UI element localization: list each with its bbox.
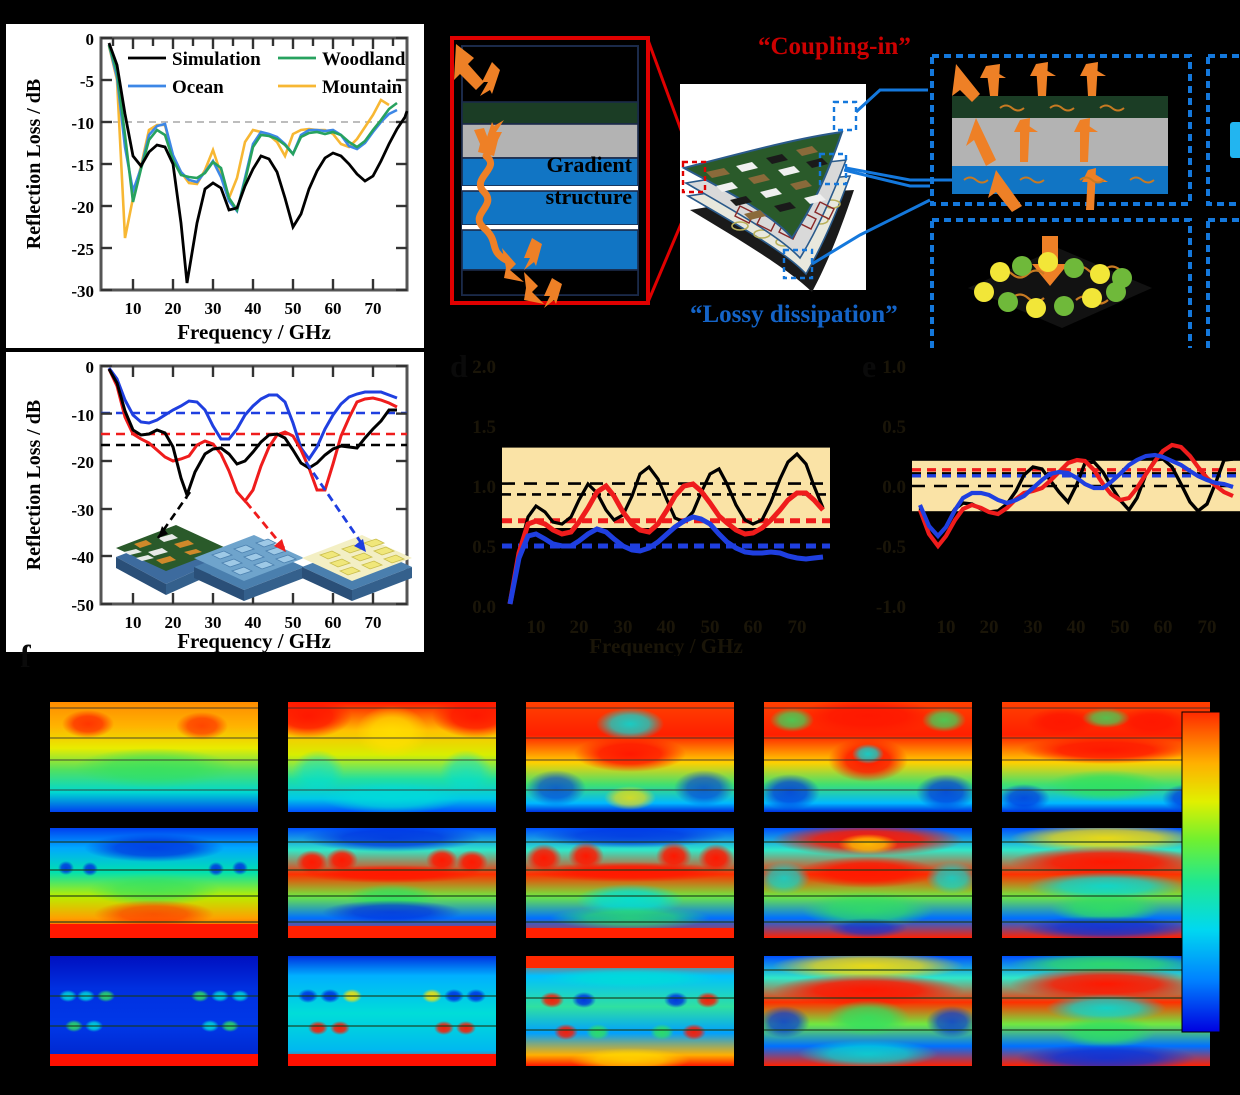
lossy-dissipation-caption: “Lossy dissipation”	[690, 301, 898, 328]
field-map-r2c2	[288, 824, 496, 938]
panel-b-region: Gradient structure	[440, 20, 1240, 350]
panel-a-letter: a	[20, 24, 40, 64]
svg-text:20: 20	[570, 617, 589, 638]
panel-d-region: 2.01.51.0 0.50.0 102030 405060 70 Freque…	[440, 348, 830, 656]
panel-f-region	[0, 660, 1240, 1095]
svg-text:-10: -10	[71, 114, 94, 133]
multilayer-fabric-illustration	[680, 84, 866, 292]
field-map-r3c5	[1002, 952, 1210, 1072]
field-map-r3c3	[526, 956, 734, 1072]
field-map-r3c2	[288, 956, 496, 1066]
svg-text:40: 40	[245, 299, 262, 318]
panel-c-chart: 0-10-20 -30-40-50 102030 405060 70 Frequ…	[6, 352, 424, 652]
panel-d-xlabel: Frequency / GHz	[589, 634, 743, 656]
svg-text:30: 30	[205, 299, 222, 318]
svg-text:0.5: 0.5	[472, 537, 496, 558]
svg-text:30: 30	[1024, 617, 1043, 638]
svg-text:50: 50	[285, 299, 302, 318]
svg-text:0.0: 0.0	[882, 477, 906, 498]
panel-f-letter: f	[20, 640, 31, 672]
gradient-label-line1: Gradient	[546, 152, 632, 177]
svg-text:Simulation: Simulation	[172, 49, 261, 70]
coupling-in-caption: “Coupling-in”	[758, 33, 911, 60]
panel-a-xlabel: Frequency / GHz	[177, 320, 331, 344]
svg-text:70: 70	[788, 617, 807, 638]
field-map-r2c4	[758, 824, 978, 938]
svg-text:-25: -25	[71, 240, 94, 259]
panel-a-ylabel: Reflection Loss / dB	[23, 79, 45, 250]
panel-c-letter: c	[20, 348, 38, 388]
panel-c-xlabel: Frequency / GHz	[177, 629, 331, 652]
svg-text:10: 10	[125, 299, 142, 318]
svg-text:Woodland: Woodland	[322, 49, 406, 70]
field-map-r3c4	[758, 952, 978, 1068]
svg-text:50: 50	[1111, 617, 1130, 638]
field-map-r1c3	[526, 702, 734, 812]
svg-text:-20: -20	[71, 453, 94, 472]
svg-text:-10: -10	[71, 406, 94, 425]
svg-text:Mountain: Mountain	[322, 77, 403, 98]
svg-text:-50: -50	[71, 596, 94, 615]
field-map-r2c5	[1002, 824, 1210, 940]
panel-b-schematic: Gradient structure	[440, 20, 1240, 350]
gradient-label-line2: structure	[546, 184, 633, 209]
panel-d-letter: d	[450, 350, 468, 382]
svg-text:1.0: 1.0	[472, 477, 496, 498]
svg-text:10: 10	[125, 613, 142, 632]
mb1-layer-absorber	[952, 166, 1168, 194]
dipole-bar-left	[1230, 122, 1240, 158]
svg-text:60: 60	[744, 617, 763, 638]
panel-c-ylabel: Reflection Loss / dB	[23, 400, 45, 571]
svg-text:-20: -20	[71, 198, 94, 217]
panel-e-letter: e	[862, 350, 876, 382]
svg-text:10: 10	[527, 617, 546, 638]
svg-text:0.5: 0.5	[882, 417, 906, 438]
panel-a-card: 0-5-10 -15-20-25 -30 102030 405060 70 Fr…	[6, 24, 424, 348]
field-map-r1c4	[760, 698, 976, 812]
svg-text:-30: -30	[71, 501, 94, 520]
svg-text:Ocean: Ocean	[172, 77, 224, 98]
svg-text:-1.0: -1.0	[876, 597, 906, 618]
svg-text:70: 70	[365, 613, 382, 632]
svg-text:10: 10	[937, 617, 956, 638]
svg-text:40: 40	[1067, 617, 1086, 638]
svg-text:0: 0	[86, 30, 95, 49]
svg-text:60: 60	[1154, 617, 1173, 638]
svg-text:-15: -15	[71, 156, 94, 175]
svg-text:-40: -40	[71, 548, 94, 567]
svg-text:70: 70	[1198, 617, 1217, 638]
panel-e-region: 1.00.50.0 -0.5-1.0 102030 405060 70	[850, 348, 1240, 656]
field-map-r2c1	[50, 828, 258, 938]
svg-text:20: 20	[165, 299, 182, 318]
svg-text:1.5: 1.5	[472, 417, 496, 438]
field-map-colorbar	[1182, 712, 1220, 1032]
panel-d-chart: 2.01.51.0 0.50.0 102030 405060 70 Freque…	[440, 348, 830, 656]
field-map-r1c2	[264, 694, 520, 814]
field-map-r2c3	[526, 824, 734, 938]
svg-text:-30: -30	[71, 282, 94, 301]
layer-camouflage	[462, 102, 638, 124]
panel-c-card: 0-10-20 -30-40-50 102030 405060 70 Frequ…	[6, 352, 424, 652]
svg-text:0.0: 0.0	[472, 597, 496, 618]
svg-text:60: 60	[325, 299, 342, 318]
svg-text:-5: -5	[80, 72, 94, 91]
svg-text:2.0: 2.0	[472, 357, 496, 378]
svg-text:-0.5: -0.5	[876, 537, 906, 558]
panel-a-chart: 0-5-10 -15-20-25 -30 102030 405060 70 Fr…	[6, 24, 424, 348]
field-map-r1c1	[50, 702, 258, 812]
svg-text:1.0: 1.0	[882, 357, 906, 378]
svg-text:0: 0	[86, 358, 95, 377]
svg-text:70: 70	[365, 299, 382, 318]
svg-text:20: 20	[980, 617, 999, 638]
panel-f-field-maps	[0, 660, 1240, 1095]
panel-e-chart: 1.00.50.0 -0.5-1.0 102030 405060 70	[850, 348, 1240, 656]
field-map-r3c1	[50, 956, 258, 1066]
